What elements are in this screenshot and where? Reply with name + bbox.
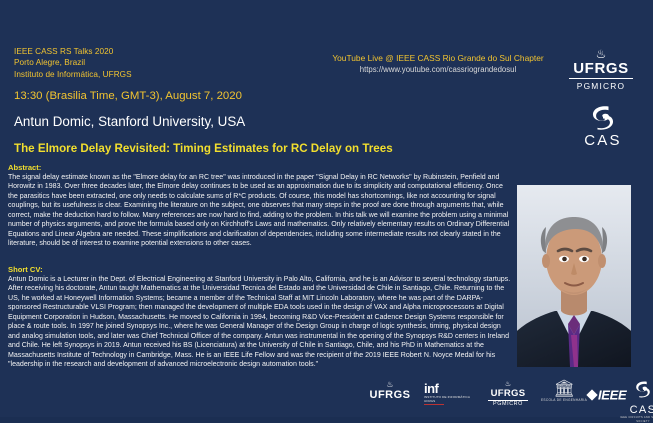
abstract-section: Abstract: The signal delay estimate know… <box>8 163 511 249</box>
portrait-illustration <box>517 185 631 367</box>
ufrgs-flame-icon: ♨ <box>563 48 639 60</box>
presentation-slide: IEEE CASS RS Talks 2020 Porto Alegre, Br… <box>0 0 653 417</box>
pgmicro-wordmark: PGMICRO <box>563 81 639 91</box>
ufrgs-wordmark: UFRGS <box>359 389 421 402</box>
page-title: The Elmore Delay Revisited: Timing Estim… <box>14 141 314 156</box>
event-line-city: Porto Alegre, Brazil <box>14 57 314 68</box>
pgmicro-logo-footer: ♨ UFRGS PGMICRO <box>482 381 534 407</box>
youtube-live-info: YouTube Live @ IEEE CASS Rio Grande do S… <box>318 52 558 75</box>
inf-ufrgs-logo-footer: inf INSTITUTO DE INFORMÁTICA UFRGS <box>424 382 480 405</box>
cas-wordmark: CAS <box>572 133 634 149</box>
talk-datetime: 13:30 (Brasilia Time, GMT-3), August 7, … <box>14 89 314 104</box>
inf-wordmark: inf <box>424 382 480 396</box>
ufrgs-flame-icon: ♨ <box>359 381 421 389</box>
ufrgs-flame-icon: ♨ <box>482 381 534 388</box>
event-line-series: IEEE CASS RS Talks 2020 <box>14 46 314 57</box>
short-cv-heading: Short CV: <box>8 265 511 274</box>
inf-accent-bar <box>424 404 444 405</box>
ufrgs-wordmark: UFRGS <box>563 60 639 77</box>
youtube-channel-label: YouTube Live @ IEEE CASS Rio Grande do S… <box>318 52 558 64</box>
cas-swirl-icon <box>590 104 616 132</box>
escola-subtitle: ESCOLA DE ENGENHARIA <box>538 398 590 402</box>
ufrgs-pgmicro-logo-top: ♨ UFRGS PGMICRO <box>563 48 639 91</box>
abstract-heading: Abstract: <box>8 163 511 172</box>
speaker-photo <box>517 185 631 367</box>
cas-swirl-icon <box>634 380 652 399</box>
cas-wordmark: CAS <box>620 404 653 416</box>
abstract-text: The signal delay estimate known as the "… <box>8 173 511 249</box>
ufrgs-wordmark: UFRGS <box>482 388 534 399</box>
cas-subtitle: IEEE CIRCUITS AND SYSTEMS SOCIETY <box>620 416 653 423</box>
pgmicro-wordmark: PGMICRO <box>482 401 534 408</box>
crest-icon: 🏛 <box>538 380 590 398</box>
divider <box>569 78 633 79</box>
inf-subtitle: INSTITUTO DE INFORMÁTICA UFRGS <box>424 396 480 403</box>
ufrgs-logo-footer: ♨ UFRGS <box>359 381 421 402</box>
short-cv-text: Antun Domic is a Lecturer in the Dept. o… <box>8 275 511 370</box>
ieee-cas-logo-top: CAS <box>572 104 634 149</box>
event-header-left: IEEE CASS RS Talks 2020 Porto Alegre, Br… <box>14 46 314 156</box>
speaker-name-affiliation: Antun Domic, Stanford University, USA <box>14 113 314 131</box>
short-cv-section: Short CV: Antun Domic is a Lecturer in t… <box>8 265 511 370</box>
sponsor-logo-strip: ♨ UFRGS inf INSTITUTO DE INFORMÁTICA UFR… <box>0 379 653 413</box>
event-line-institute: Instituto de Informática, UFRGS <box>14 69 314 80</box>
youtube-url-link[interactable]: https://www.youtube.com/cassriograndedos… <box>318 64 558 75</box>
escola-engenharia-logo-footer: 🏛 ESCOLA DE ENGENHARIA <box>538 380 590 402</box>
